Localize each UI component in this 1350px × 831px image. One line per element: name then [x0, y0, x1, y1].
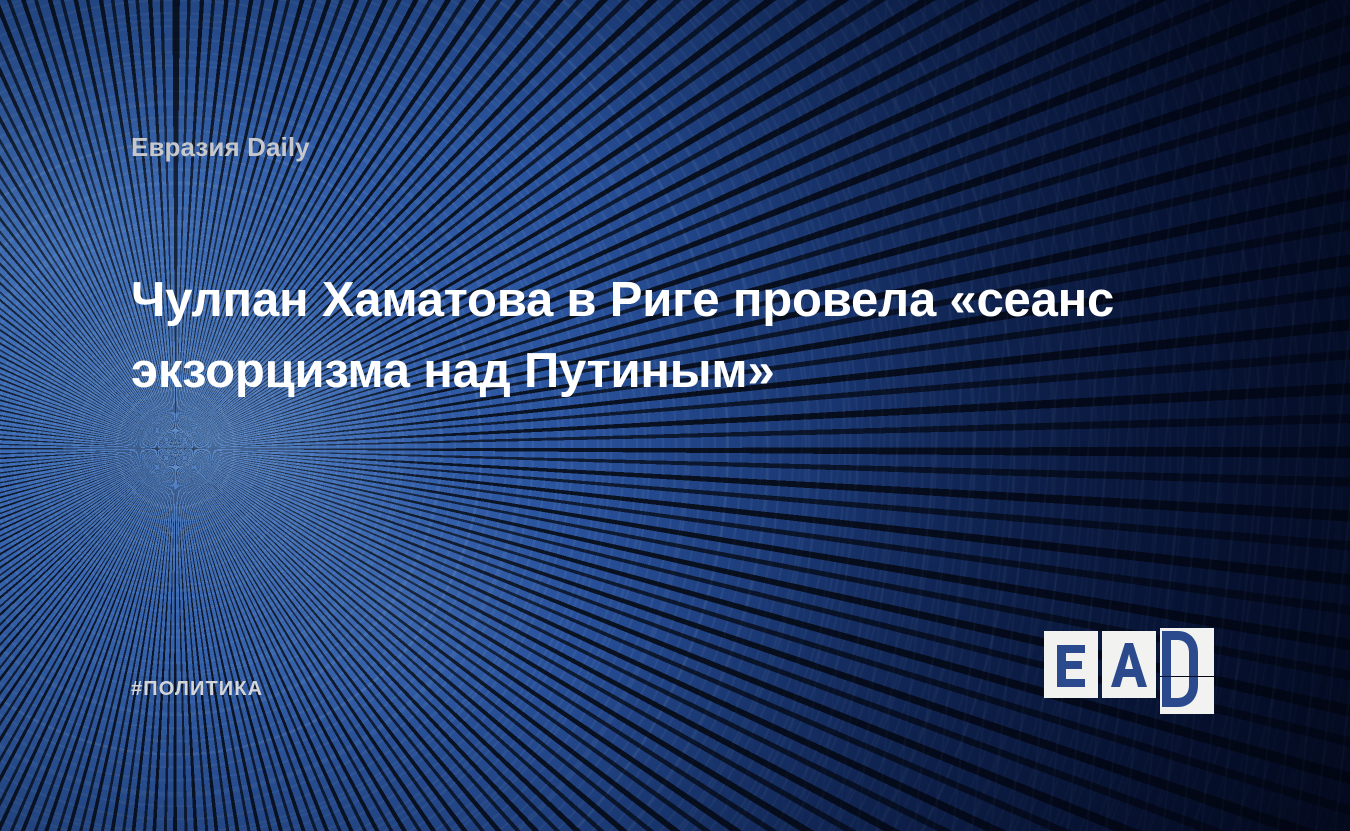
brand-wordmark: Евразия Daily	[131, 134, 310, 160]
logo-tile-d-lower	[1160, 677, 1214, 714]
page-title: Чулпан Хаматова в Риге провела «сеанс эк…	[131, 265, 1241, 407]
logo-tile-a	[1102, 631, 1156, 698]
card-content: Евразия Daily Чулпан Хаматова в Риге про…	[0, 0, 1350, 831]
ead-logo	[1044, 628, 1224, 714]
category-hashtag: #ПОЛИТИКА	[131, 679, 263, 699]
logo-tile-d-upper	[1160, 628, 1214, 676]
logo-tile-e	[1044, 631, 1098, 698]
share-card: Евразия Daily Чулпан Хаматова в Риге про…	[0, 0, 1350, 831]
